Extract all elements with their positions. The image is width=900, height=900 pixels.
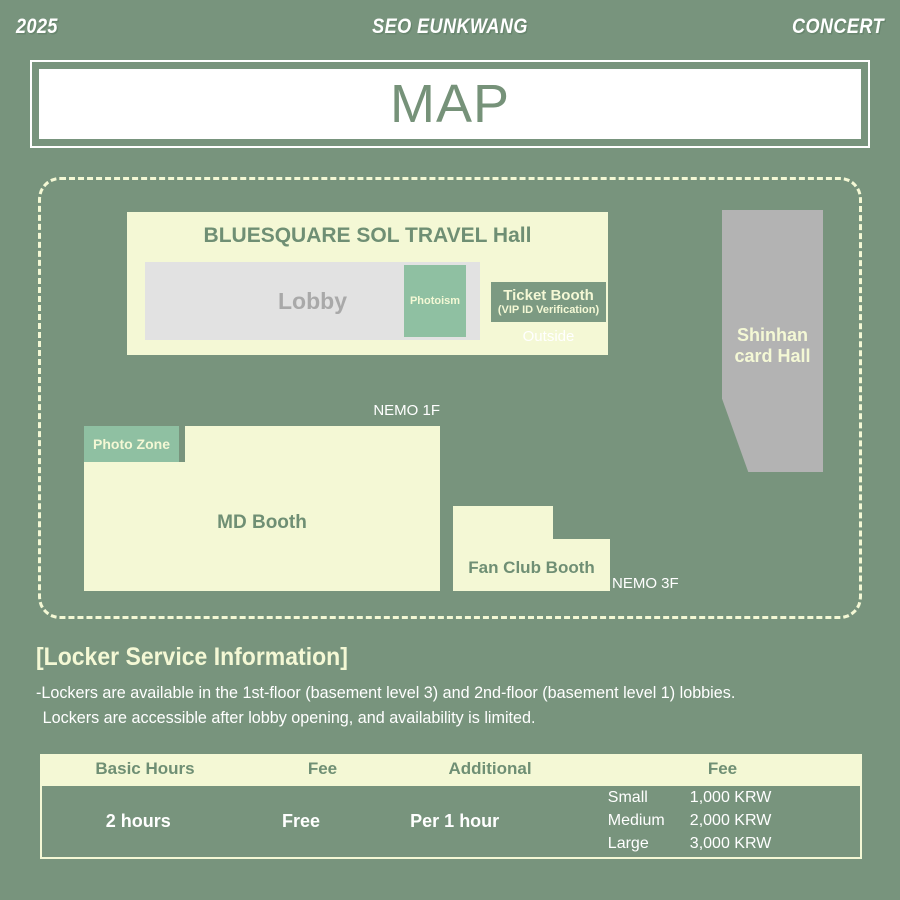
table-header-basic-hours: Basic Hours	[40, 759, 250, 779]
locker-section-heading: [Locker Service Information]	[36, 643, 348, 672]
nemo-3f-label: NEMO 3F	[612, 575, 679, 592]
size-row-medium: Medium 2,000 KRW	[608, 810, 860, 833]
header-event: CONCERT	[792, 15, 884, 39]
size-price-small: 1,000 KRW	[690, 787, 800, 810]
cell-basic-hours: 2 hours	[42, 811, 235, 832]
cell-size-fees: Small 1,000 KRW Medium 2,000 KRW Large 3…	[542, 787, 860, 855]
size-name-medium: Medium	[608, 810, 690, 833]
size-row-small: Small 1,000 KRW	[608, 787, 860, 810]
photo-zone-block: Photo Zone	[84, 426, 179, 462]
photo-zone-label: Photo Zone	[93, 436, 170, 452]
locker-description-line1: -Lockers are available in the 1st-floor …	[36, 680, 834, 705]
outside-label: Outside	[489, 328, 608, 345]
header-year: 2025	[16, 15, 58, 39]
locker-description: -Lockers are available in the 1st-floor …	[36, 680, 834, 730]
map-title-inner: MAP	[39, 69, 861, 139]
table-header-fee: Fee	[250, 759, 395, 779]
table-row: 2 hours Free Per 1 hour Small 1,000 KRW …	[40, 784, 862, 859]
map-title-panel: MAP	[30, 60, 870, 148]
header-bar: 2025 SEO EUNKWANG CONCERT	[0, 0, 900, 56]
table-header-fee-2: Fee	[585, 759, 860, 779]
ticket-booth-subtitle: (VIP ID Verification)	[498, 304, 599, 316]
nemo-1f-label: NEMO 1F	[300, 402, 440, 419]
table-header-row: Basic Hours Fee Additional Fee	[40, 754, 862, 784]
locker-fee-table: Basic Hours Fee Additional Fee 2 hours F…	[40, 754, 862, 859]
photoism-label: Photoism	[410, 295, 460, 307]
locker-description-line2: Lockers are accessible after lobby openi…	[36, 705, 834, 730]
ticket-booth-block: Ticket Booth (VIP ID Verification)	[489, 280, 608, 324]
size-price-large: 3,000 KRW	[690, 833, 800, 856]
md-booth-label: MD Booth	[84, 512, 440, 534]
lobby-label: Lobby	[278, 288, 347, 315]
size-name-large: Large	[608, 833, 690, 856]
ticket-booth-label: Ticket Booth	[503, 288, 594, 304]
size-price-medium: 2,000 KRW	[690, 810, 800, 833]
shinhan-label-line1: Shinhan	[722, 325, 823, 346]
size-row-large: Large 3,000 KRW	[608, 833, 860, 856]
photoism-block: Photoism	[404, 265, 466, 337]
bluesquare-hall-label: BLUESQUARE SOL TRAVEL Hall	[127, 224, 608, 248]
header-artist: SEO EUNKWANG	[63, 15, 837, 39]
shinhan-label-line2: card Hall	[722, 346, 823, 367]
shinhan-card-hall-label: Shinhan card Hall	[722, 325, 823, 367]
page-title: MAP	[390, 77, 510, 131]
size-name-small: Small	[608, 787, 690, 810]
fan-club-booth-label: Fan Club Booth	[453, 558, 610, 578]
table-header-additional: Additional	[395, 759, 585, 779]
cell-additional: Per 1 hour	[368, 811, 542, 832]
cell-basic-fee: Free	[235, 811, 368, 832]
